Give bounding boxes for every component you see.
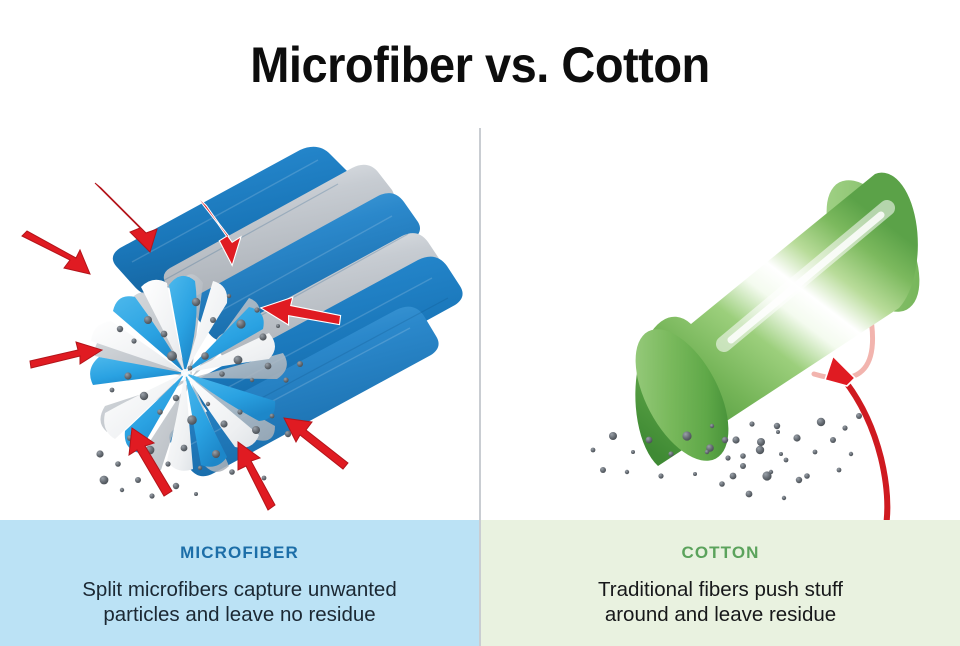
cotton-heading: COTTON (481, 544, 960, 561)
microfiber-body-line-1: Split microfibers capture unwanted (30, 577, 449, 602)
microfiber-heading: MICROFIBER (0, 544, 479, 561)
cotton-cylinder (533, 128, 960, 518)
arrow-left-upper (22, 231, 90, 274)
cotton-illustration-pane (481, 128, 960, 520)
microfiber-caption-panel: MICROFIBER Split microfibers capture unw… (0, 520, 479, 646)
microfiber-body-line-2: particles and leave no residue (30, 602, 449, 627)
page-title: Microfiber vs. Cotton (250, 39, 710, 89)
microfiber-illustration-pane (0, 128, 479, 520)
cotton-body-line-1: Traditional fibers push stuff (511, 577, 930, 602)
cotton-caption-panel: COTTON Traditional fibers push stuff aro… (481, 520, 960, 646)
arrow-right-lower (284, 418, 348, 469)
title-bar: Microfiber vs. Cotton (0, 0, 960, 128)
arrow-left-lower (30, 342, 102, 368)
cotton-body-text: Traditional fibers push stuff around and… (481, 577, 960, 627)
arrow-top-left (95, 183, 157, 252)
microfiber-body-text: Split microfibers capture unwanted parti… (0, 577, 479, 627)
infographic-root: Microfiber vs. Cotton (0, 0, 960, 646)
arrow-bottom-middle (238, 442, 275, 510)
center-divider (479, 128, 481, 646)
cotton-body-line-2: around and leave residue (511, 602, 930, 627)
cotton-fiber-cylinder-illustration (481, 128, 960, 520)
split-microfiber-bundle-illustration (0, 128, 479, 520)
